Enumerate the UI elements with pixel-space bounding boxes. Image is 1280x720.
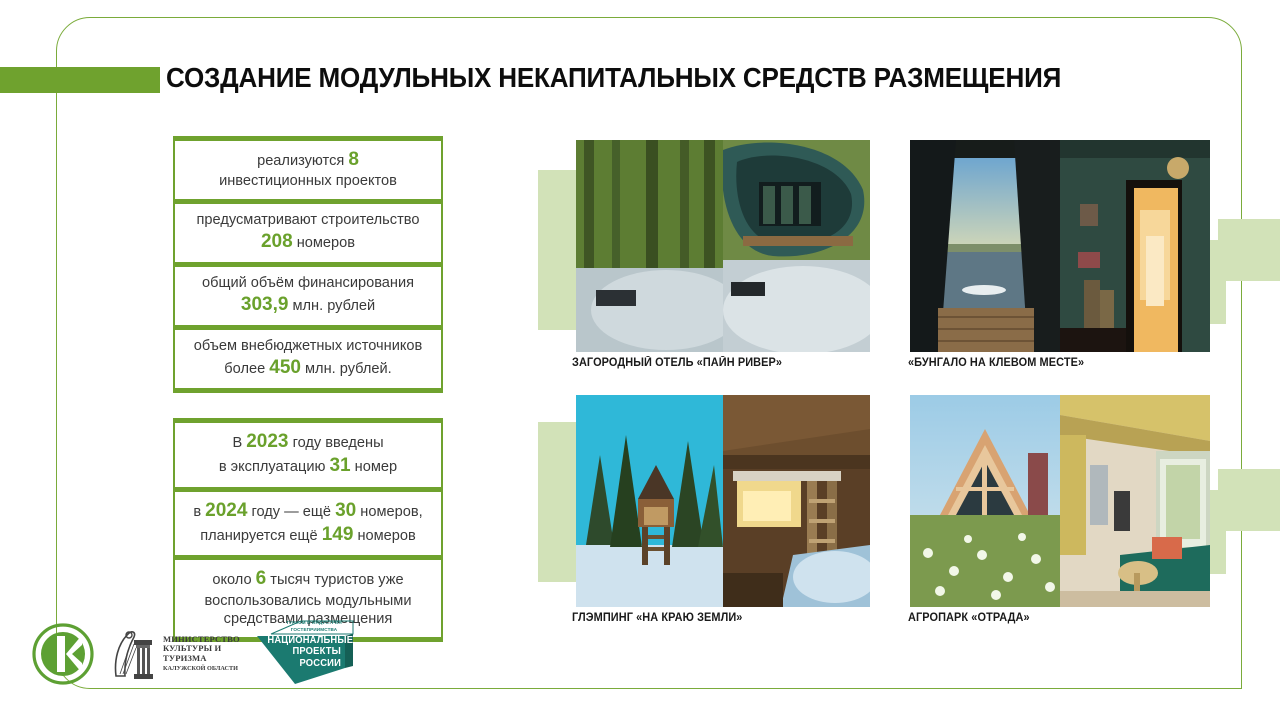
photo-cell-bungalo	[910, 140, 1210, 352]
stat-text: реализуются	[257, 153, 348, 169]
photo-caption: ГЛЭМПИНГ «НА КРАЮ ЗЕМЛИ»	[572, 612, 742, 624]
column-harp-icon	[112, 626, 158, 682]
stat-number: 31	[329, 455, 350, 476]
photo-caption: АГРОПАРК «ОТРАДА»	[908, 612, 1030, 624]
stat-text: около	[212, 572, 255, 588]
stat-number: 2024	[205, 500, 247, 521]
stat-text: номеров,	[356, 504, 422, 520]
stat-text: планируется ещё	[200, 528, 322, 544]
national-projects-tagline: ТУРИЗМ И ИНДУСТРИЯ ГОСТЕПРИИМСТВА	[275, 620, 353, 633]
national-projects-title: НАЦИОНАЛЬНЫЕ ПРОЕКТЫ РОССИИ	[267, 635, 341, 669]
np-tagline-line-1: ТУРИЗМ И ИНДУСТРИЯ	[286, 620, 342, 625]
stats-group-investments: реализуются 8инвестиционных проектовпред…	[173, 136, 443, 393]
photo-image	[910, 395, 1060, 607]
stat-text: млн. рублей	[288, 298, 375, 314]
ministry-logo: МИНИСТЕРСТВО КУЛЬТУРЫ И ТУРИЗМА КАЛУЖСКО…	[112, 625, 240, 683]
stat-text: тысяч туристов уже	[266, 572, 403, 588]
stat-text: более	[224, 361, 269, 377]
stat-number: 303,9	[241, 294, 289, 315]
ministry-line-4: КАЛУЖСКОЙ ОБЛАСТИ	[163, 665, 238, 672]
photo-image	[723, 395, 870, 607]
photo-caption: «БУНГАЛО НА КЛЕВОМ МЕСТЕ»	[908, 357, 1084, 369]
stat-row: объем внебюджетных источниковболее 450 м…	[175, 325, 441, 393]
stat-row: общий объём финансирования303,9 млн. руб…	[175, 262, 441, 330]
stat-number: 208	[261, 231, 293, 252]
ministry-line-2: КУЛЬТУРЫ И	[163, 643, 221, 653]
photo-cell-glamping	[576, 395, 870, 607]
np-title-line-3: РОССИИ	[299, 658, 341, 669]
stat-number: 149	[322, 524, 354, 545]
stat-text: в эксплуатацию	[219, 459, 330, 475]
stat-row: предусматривают строительство208 номеров	[175, 199, 441, 267]
right-accent-square-bottom	[1218, 469, 1280, 531]
photo-cell-pine-river	[576, 140, 870, 352]
stat-text: объем внебюджетных источников	[194, 338, 423, 354]
photo-image	[576, 395, 723, 607]
stat-number: 2023	[246, 431, 288, 452]
kaluga-region-logo	[32, 623, 94, 685]
photo-image	[723, 140, 870, 352]
ministry-logo-text: МИНИСТЕРСТВО КУЛЬТУРЫ И ТУРИЗМА КАЛУЖСКО…	[163, 635, 240, 674]
stat-number: 8	[348, 149, 359, 170]
right-accent-square-top	[1218, 219, 1280, 281]
photo-image	[1060, 140, 1210, 352]
stat-row: в 2024 году — ещё 30 номеров,планируется…	[175, 487, 441, 561]
stat-text: предусматривают строительство	[197, 212, 420, 228]
photo-image	[576, 140, 723, 352]
stat-text: номер	[351, 459, 398, 475]
stat-text: воспользовались модульными	[205, 593, 412, 609]
np-title-line-1: НАЦИОНАЛЬНЫЕ	[267, 635, 353, 646]
title-accent-bar	[0, 67, 160, 93]
photo-image	[1060, 395, 1210, 607]
ministry-line-1: МИНИСТЕРСТВО	[163, 634, 240, 644]
stat-text: номеров	[293, 235, 355, 251]
np-tagline-line-2: ГОСТЕПРИИМСТВА	[291, 627, 338, 632]
stat-text: номеров	[353, 528, 415, 544]
stat-text: инвестиционных проектов	[219, 173, 397, 189]
stat-number: 450	[269, 357, 301, 378]
stat-text: млн. рублей.	[301, 361, 392, 377]
stat-number: 30	[335, 500, 356, 521]
stat-number: 6	[256, 568, 267, 589]
np-title-line-2: ПРОЕКТЫ	[292, 646, 341, 657]
page-title: СОЗДАНИЕ МОДУЛЬНЫХ НЕКАПИТАЛЬНЫХ СРЕДСТВ…	[166, 62, 1124, 94]
photo-caption: ЗАГОРОДНЫЙ ОТЕЛЬ «ПАЙН РИВЕР»	[572, 357, 782, 369]
stat-row: реализуются 8инвестиционных проектов	[175, 136, 441, 204]
stat-text: В	[232, 435, 246, 451]
stat-text: году введены	[289, 435, 384, 451]
slide-root: СОЗДАНИЕ МОДУЛЬНЫХ НЕКАПИТАЛЬНЫХ СРЕДСТВ…	[0, 0, 1280, 720]
stat-row: В 2023 году введеныв эксплуатацию 31 ном…	[175, 418, 441, 492]
stats-group-results: В 2023 году введеныв эксплуатацию 31 ном…	[173, 418, 443, 642]
photo-cell-agropark	[910, 395, 1210, 607]
stat-text: году — ещё	[247, 504, 335, 520]
national-projects-logo: ТУРИЗМ И ИНДУСТРИЯ ГОСТЕПРИИМСТВА НАЦИОН…	[253, 620, 357, 688]
stat-text: в	[193, 504, 205, 520]
ministry-line-3: ТУРИЗМА	[163, 653, 207, 663]
stat-text: общий объём финансирования	[202, 275, 414, 291]
photo-image	[910, 140, 1060, 352]
